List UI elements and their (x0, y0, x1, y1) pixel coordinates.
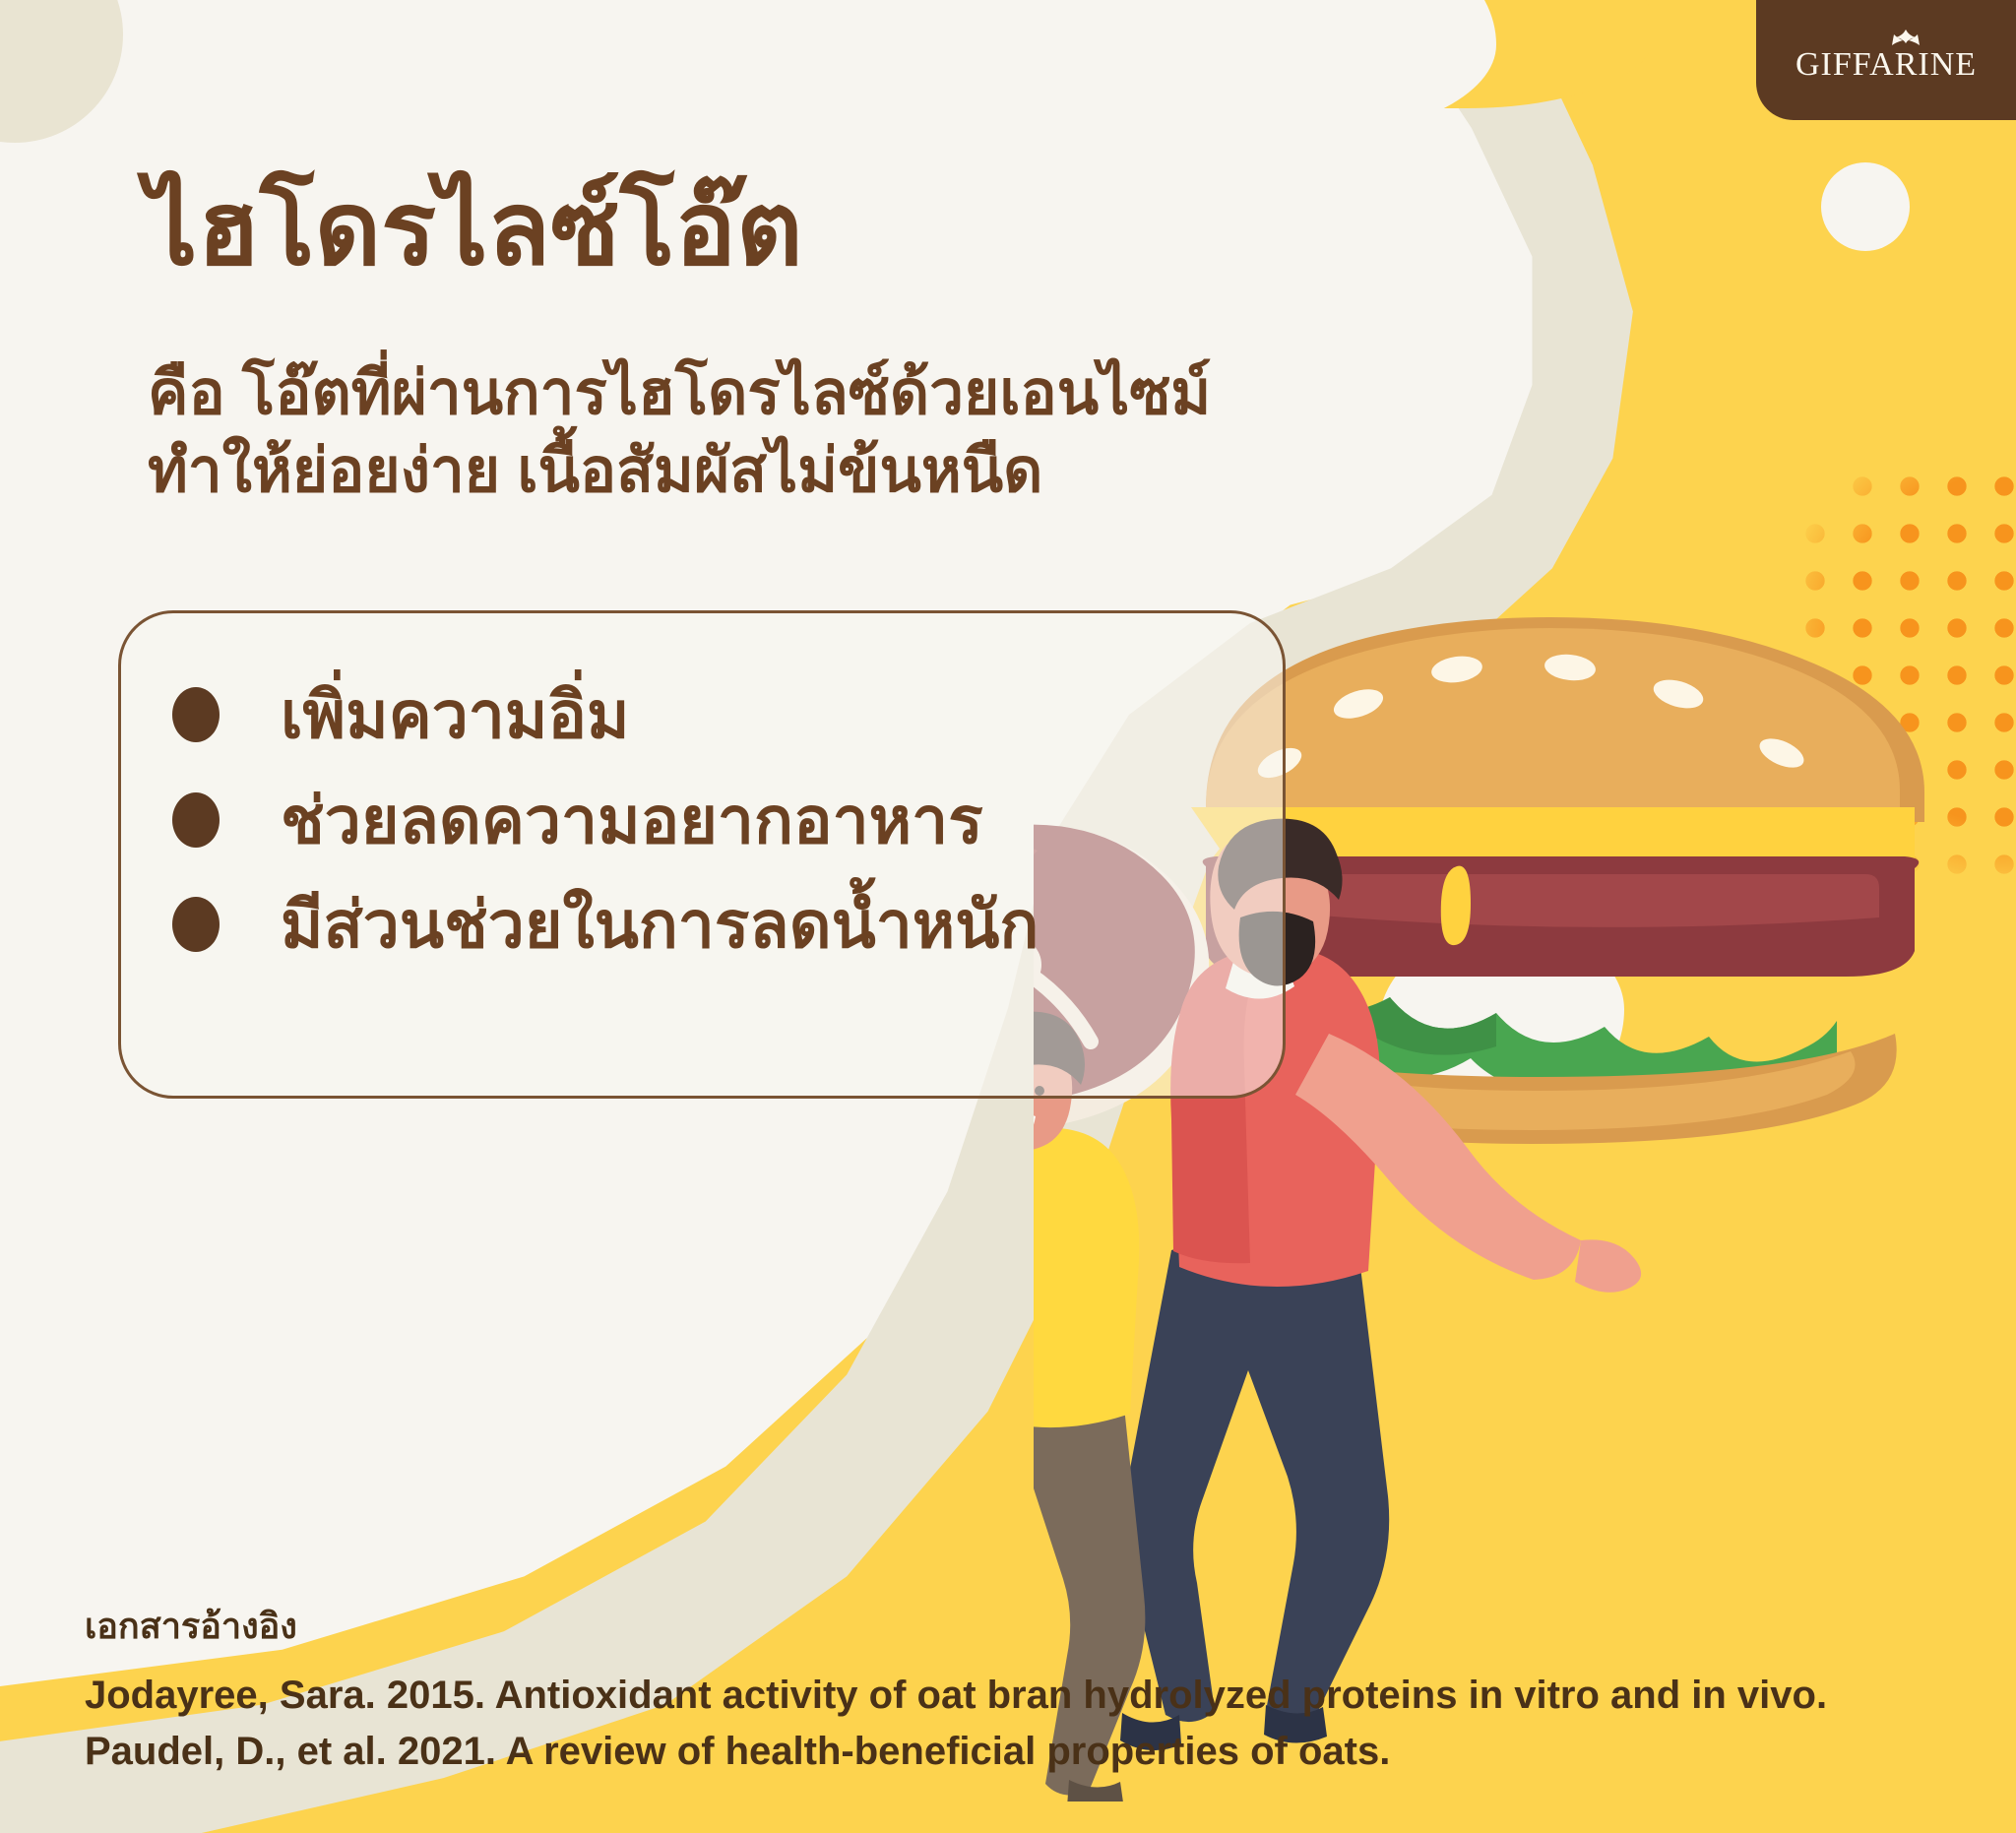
references-block: เอกสารอ้างอิง Jodayree, Sara. 2015. Anti… (85, 1598, 1827, 1780)
list-item: มีส่วนช่วยในการลดน้ำหนัก (172, 889, 1039, 961)
logo-wrap: GIFFARINE (1795, 36, 1977, 84)
page-title: ไฮโดรไลซ์โอ๊ต (146, 175, 803, 284)
list-item: เพิ่มความอิ่ม (172, 679, 1039, 751)
bullet-dot-icon (172, 792, 220, 848)
references-title: เอกสารอ้างอิง (85, 1598, 1827, 1654)
logo-text: GIFFARINE (1795, 46, 1977, 83)
poster-canvas: GIFFARINE ไฮโดรไลซ์โอ๊ต คือ โอ๊ตที่ผ่านก… (0, 0, 2016, 1833)
bullet-dot-icon (172, 897, 220, 952)
background-white-dot-top-right (1821, 162, 1910, 251)
subtitle-block: คือ โอ๊ตที่ผ่านการไฮโดรไลซ์ด้วยเอนไซม์ ท… (148, 354, 1211, 511)
benefit-label: เพิ่มความอิ่ม (281, 679, 630, 751)
benefits-list: เพิ่มความอิ่ม ช่วยลดความอยากอาหาร มีส่วน… (172, 679, 1039, 961)
benefit-label: มีส่วนช่วยในการลดน้ำหนัก (281, 889, 1039, 961)
crown-ornament-icon (1886, 29, 1925, 46)
bullet-dot-icon (172, 687, 220, 742)
benefit-label: ช่วยลดความอยากอาหาร (281, 785, 983, 856)
reference-entry: Jodayree, Sara. 2015. Antioxidant activi… (85, 1668, 1827, 1724)
subtitle-line-1: คือ โอ๊ตที่ผ่านการไฮโดรไลซ์ด้วยเอนไซม์ (148, 354, 1211, 432)
subtitle-line-2: ทำให้ย่อยง่าย เนื้อสัมผัสไม่ข้นหนืด (148, 432, 1211, 510)
reference-entry: Paudel, D., et al. 2021. A review of hea… (85, 1724, 1827, 1780)
list-item: ช่วยลดความอยากอาหาร (172, 785, 1039, 856)
giffarine-logo-badge: GIFFARINE (1756, 0, 2016, 120)
